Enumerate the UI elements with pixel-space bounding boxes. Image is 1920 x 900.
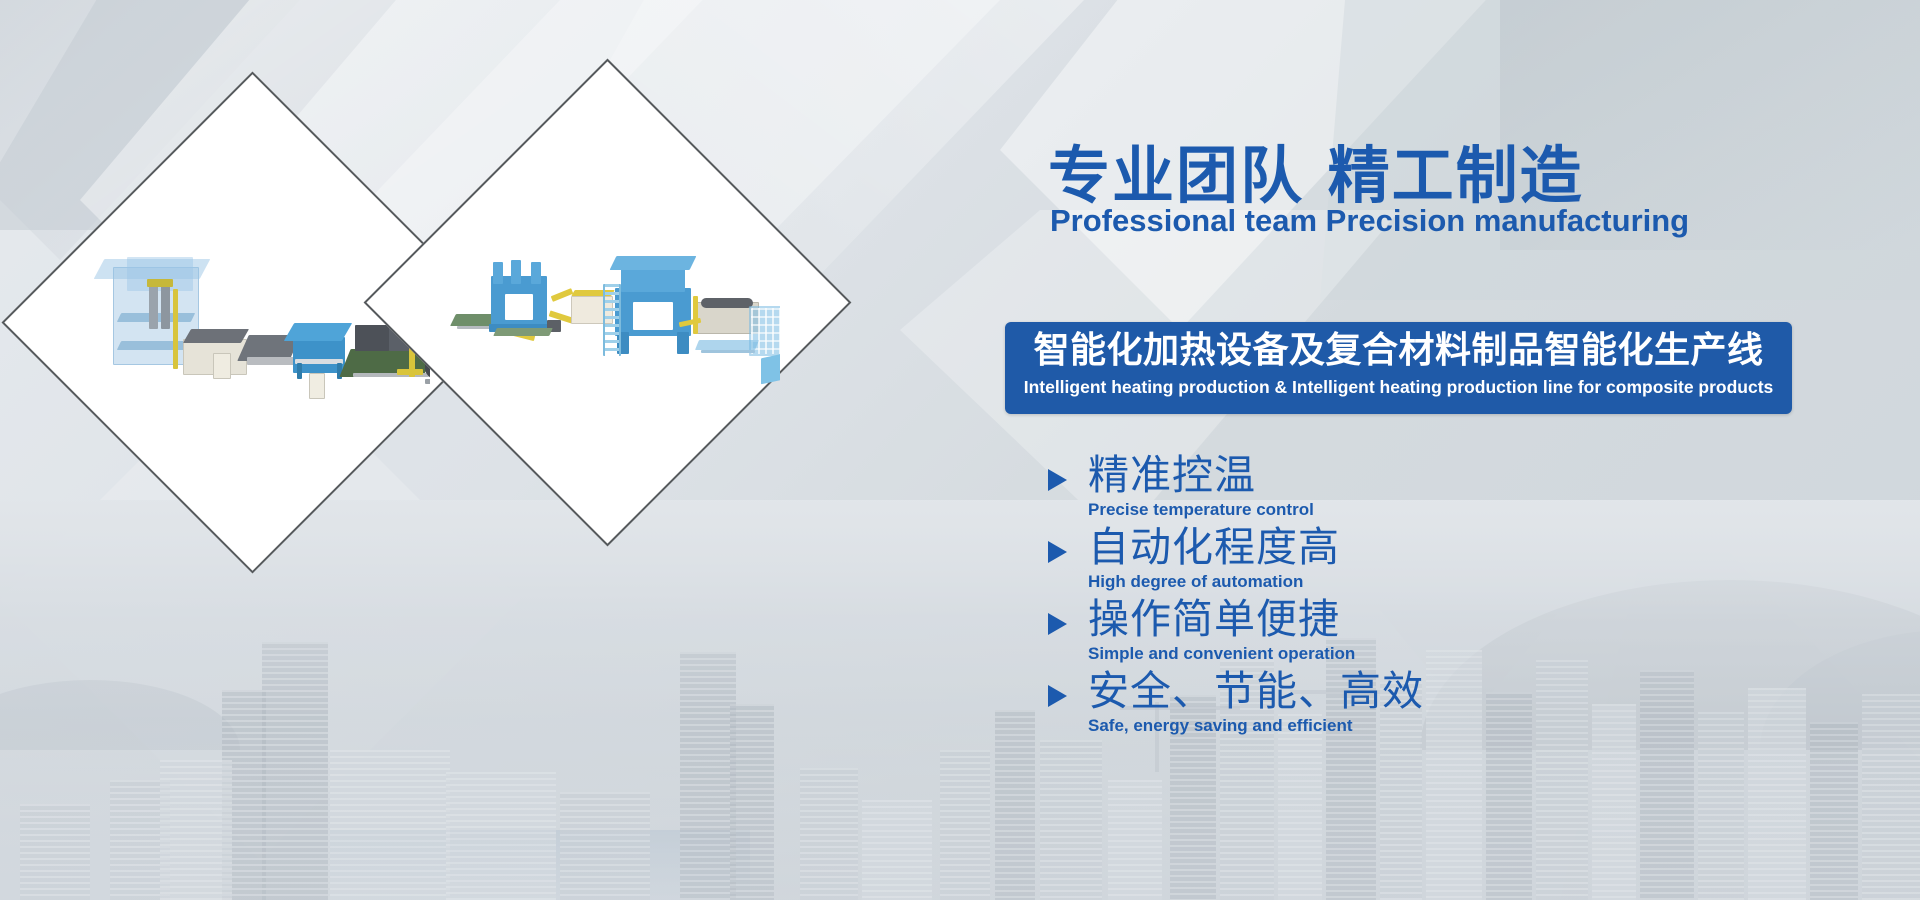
gantry-arm [397,369,423,375]
triangle-right-icon [1048,541,1067,563]
conveyor-legs [701,350,755,353]
gallery-diamond-2[interactable] [435,130,780,475]
feature-item-3: 操作简单便捷 Simple and convenient operation [1040,599,1600,671]
feature-label-en: Simple and convenient operation [1088,645,1355,662]
highlight-banner-box: 智能化加热设备及复合材料制品智能化生产线 Intelligent heating… [1005,322,1792,414]
module-dark [355,325,389,351]
content-column: 专业团队 精工制造 Professional team Precision ma… [1040,0,1920,900]
highlight-title-cn: 智能化加热设备及复合材料制品智能化生产线 [1033,328,1763,373]
promo-banner: 专业团队 精工制造 Professional team Precision ma… [0,0,1920,900]
press-leg [297,363,302,379]
page-title: 专业团队 精工制造 [1048,145,1584,207]
feature-label-cn: 精准控温 [1088,449,1256,502]
production-line-render-2 [453,240,773,390]
feature-item-1: 精准控温 Precise temperature control [1040,455,1600,527]
hydraulic-cylinder [149,283,158,329]
feature-label-en: Precise temperature control [1088,501,1314,518]
feature-label-cn: 安全、节能、高效 [1088,665,1424,718]
triangle-right-icon [1048,613,1067,635]
feature-label-en: High degree of automation [1088,573,1303,590]
diamond-image-clip [435,130,780,475]
conveyor-legs [457,326,493,329]
feature-item-2: 自动化程度高 High degree of automation [1040,527,1600,599]
frame-post-yellow [173,289,178,369]
main-press-crown [610,256,697,270]
machine-guard-yellow [693,296,698,334]
press-frame-cutout [505,294,533,320]
tank-base [425,379,430,384]
press-shelf [295,359,343,364]
page-subtitle: Professional team Precision manufacturin… [1050,205,1689,236]
conveyor-frame [247,357,295,365]
press-column [531,262,541,284]
blue-press-top [284,323,352,341]
lower-conveyor-blue [695,340,759,350]
hydraulic-cylinder [161,283,170,329]
feature-label-en: Safe, energy saving and efficient [1088,717,1353,734]
robot-arm-yellow [551,288,574,302]
control-box-small [309,373,325,399]
feature-label-cn: 操作简单便捷 [1088,593,1340,646]
production-line-render-1 [97,253,417,413]
triangle-right-icon [1048,469,1067,491]
highlight-title-en: Intelligent heating production & Intelli… [1024,377,1774,398]
press-column [493,262,503,284]
feature-list: 精准控温 Precise temperature control 自动化程度高 … [1040,455,1600,743]
cylinder-cap [147,279,173,287]
transfer-conveyor [493,328,553,336]
feature-item-4: 安全、节能、高效 Safe, energy saving and efficie… [1040,671,1600,743]
diamond-image-clip [75,145,430,500]
control-panel [213,353,231,379]
press-leg [677,332,689,354]
access-ladder [603,284,621,356]
triangle-right-icon [1048,685,1067,707]
machine-housing-top [183,329,249,343]
press-column [511,260,521,284]
roller-drum [701,298,753,308]
gallery-diamond-1[interactable] [75,145,430,500]
material-block-blue [761,354,780,385]
feature-label-cn: 自动化程度高 [1088,521,1340,574]
main-press-window [633,302,673,330]
